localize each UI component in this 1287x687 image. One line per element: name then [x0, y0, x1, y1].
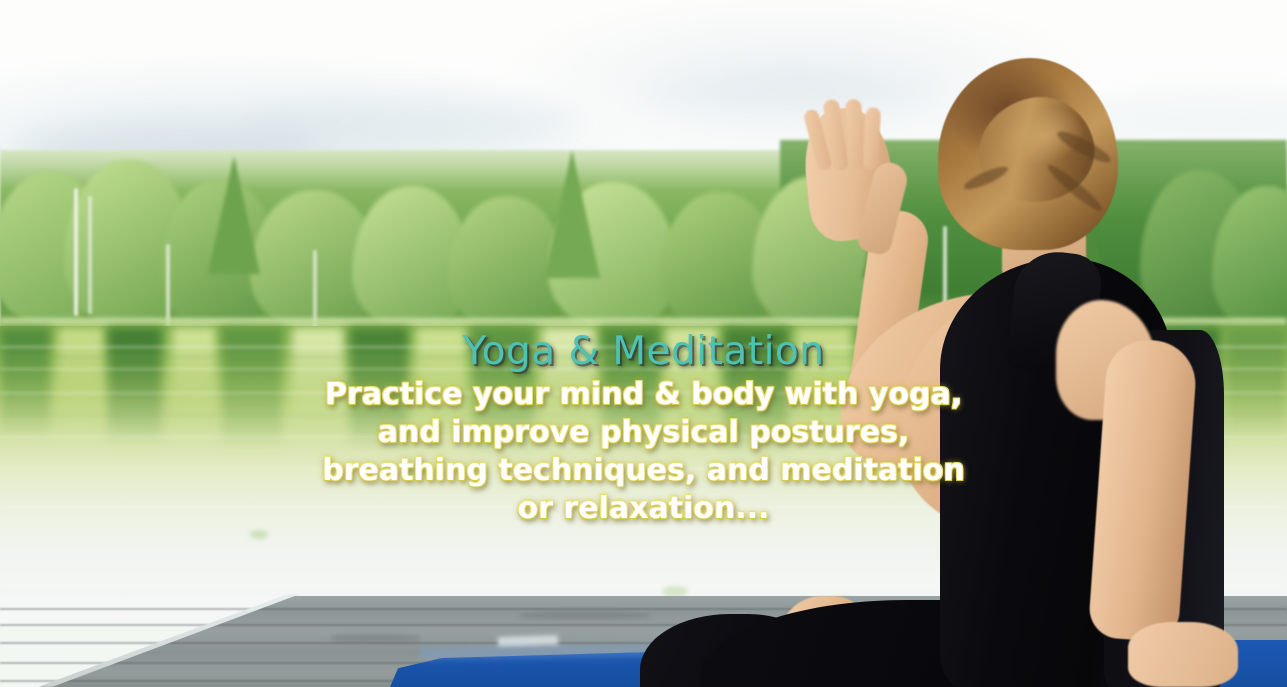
finger [863, 107, 881, 170]
woman-yoga-figure [0, 0, 1287, 687]
yoga-meditation-hero-banner: Yoga & Meditation Practice your mind & b… [0, 0, 1287, 687]
finger [845, 99, 865, 170]
supporting-hand [1128, 622, 1238, 687]
